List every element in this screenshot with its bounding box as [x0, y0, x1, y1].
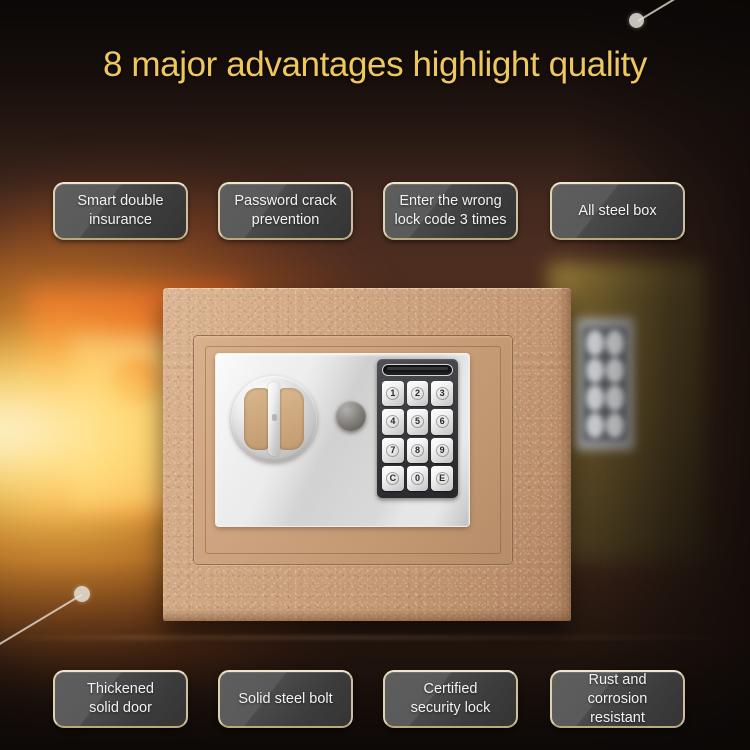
keypad-key-label: 8 — [411, 444, 424, 457]
safe-knob[interactable] — [336, 401, 366, 431]
safe-product-image: 1 2 3 4 5 6 7 8 9 C 0 E — [163, 288, 571, 621]
key-lock-dial[interactable] — [231, 376, 317, 462]
badge-all-steel-box[interactable]: All steel box — [550, 182, 685, 240]
keypad-key-enter[interactable]: E — [431, 466, 453, 491]
keypad-key-6[interactable]: 6 — [431, 409, 453, 434]
keypad-key-label: 4 — [386, 415, 399, 428]
keypad-key-label: 1 — [386, 387, 399, 400]
keypad-key-label: 0 — [411, 472, 424, 485]
keypad-panel: 1 2 3 4 5 6 7 8 9 C 0 E — [377, 359, 458, 498]
keypad-key-label: 6 — [436, 415, 449, 428]
decorative-dot-bottom-left — [74, 586, 90, 602]
badge-line-1: Password crack — [234, 192, 336, 211]
badge-line-2: corrosion resistant — [560, 690, 675, 728]
badge-line-2: security lock — [411, 699, 491, 718]
badge-line-1: Smart double — [77, 192, 163, 211]
badge-thickened-solid-door[interactable]: Thickened solid door — [53, 670, 188, 728]
keypad-key-1[interactable]: 1 — [382, 381, 404, 406]
key-lock-cutout-left — [244, 388, 269, 450]
key-lock-pin — [272, 414, 277, 421]
safe-right-edge — [555, 288, 571, 621]
keypad-key-5[interactable]: 5 — [407, 409, 429, 434]
badge-certified-security-lock[interactable]: Certified security lock — [383, 670, 518, 728]
keypad-key-0[interactable]: 0 — [407, 466, 429, 491]
badge-rust-corrosion-resistant[interactable]: Rust and corrosion resistant — [550, 670, 685, 728]
keypad-key-7[interactable]: 7 — [382, 438, 404, 463]
badge-line-1: Enter the wrong — [394, 192, 506, 211]
keypad-key-4[interactable]: 4 — [382, 409, 404, 434]
badge-line-1: Solid steel bolt — [238, 690, 332, 709]
badge-password-crack-prevention[interactable]: Password crack prevention — [218, 182, 353, 240]
badge-line-2: insurance — [77, 211, 163, 230]
page-title: 8 major advantages highlight quality — [0, 45, 750, 85]
keypad-key-label: 3 — [436, 387, 449, 400]
badge-line-2: lock code 3 times — [394, 211, 506, 230]
badge-line-1: All steel box — [578, 202, 656, 221]
badge-line-2: prevention — [234, 211, 336, 230]
keypad-key-3[interactable]: 3 — [431, 381, 453, 406]
safe-face-plate: 1 2 3 4 5 6 7 8 9 C 0 E — [216, 354, 469, 526]
background-table-edge — [0, 636, 750, 639]
badge-smart-double-insurance[interactable]: Smart double insurance — [53, 182, 188, 240]
keypad-key-label: 2 — [411, 387, 424, 400]
badge-line-1: Certified — [411, 680, 491, 699]
keypad-key-label: E — [436, 472, 449, 485]
badge-line-2: solid door — [87, 699, 154, 718]
badge-solid-steel-bolt[interactable]: Solid steel bolt — [218, 670, 353, 728]
keypad-keys: 1 2 3 4 5 6 7 8 9 C 0 E — [382, 381, 453, 491]
badge-line-1: Thickened — [87, 680, 154, 699]
badge-line-1: Rust and — [560, 671, 675, 690]
safe-bottom-edge — [163, 609, 571, 621]
badge-enter-wrong-lock-code[interactable]: Enter the wrong lock code 3 times — [383, 182, 518, 240]
product-banner: 8 major advantages highlight quality Sma… — [0, 0, 750, 750]
keypad-key-label: 7 — [386, 444, 399, 457]
decorative-dot-top-right — [629, 13, 644, 28]
background-top-vignette — [0, 0, 750, 200]
key-lock-cutout-right — [279, 388, 304, 450]
keypad-key-label: C — [386, 472, 399, 485]
keypad-display — [382, 364, 453, 376]
keypad-key-2[interactable]: 2 — [407, 381, 429, 406]
keypad-key-9[interactable]: 9 — [431, 438, 453, 463]
keypad-key-label: 9 — [436, 444, 449, 457]
keypad-key-label: 5 — [411, 415, 424, 428]
keypad-key-8[interactable]: 8 — [407, 438, 429, 463]
keypad-key-clear[interactable]: C — [382, 466, 404, 491]
